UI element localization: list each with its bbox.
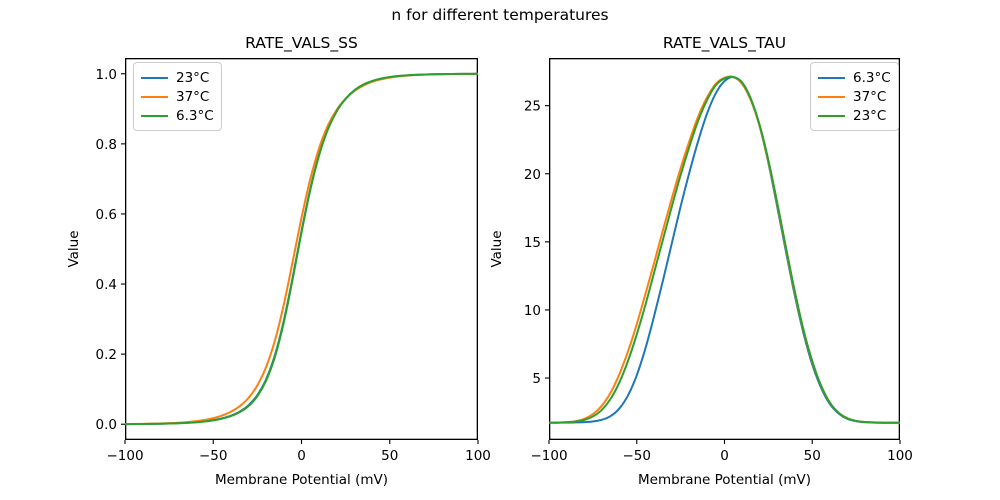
x-tick-label: 50 (381, 448, 398, 464)
y-tick-label: 15 (524, 235, 541, 251)
legend-color-swatch (141, 115, 168, 117)
legend-entry-label: 6.3°C (853, 70, 891, 86)
figure-suptitle: n for different temperatures (0, 6, 1000, 24)
x-tick-label: 0 (297, 448, 306, 464)
y-tick-label: 10 (524, 303, 541, 319)
matplotlib-figure: n for different temperatures RATE_VALS_S… (0, 0, 1000, 500)
x-tick-label: 50 (804, 448, 821, 464)
y-tick-label: 1.0 (96, 67, 117, 83)
y-tick-label: 5 (532, 371, 541, 387)
legend-entry[interactable]: 6.3°C (818, 68, 891, 87)
x-axis-label-tau: Membrane Potential (mV) (549, 472, 900, 488)
y-tick-label: 0.8 (96, 137, 117, 153)
y-axis-label-ss: Value (66, 189, 82, 309)
y-tick-label: 0.2 (96, 347, 117, 363)
y-tick-label: 0.0 (96, 417, 117, 433)
legend-tau[interactable]: 6.3°C37°C23°C (810, 62, 899, 131)
legend-entry[interactable]: 6.3°C (141, 106, 214, 125)
x-tick-label: −100 (530, 448, 567, 464)
legend-entry[interactable]: 37°C (141, 87, 214, 106)
x-tick-label: −50 (623, 448, 652, 464)
legend-color-swatch (818, 77, 845, 79)
legend-entry-label: 23°C (176, 70, 209, 86)
legend-ss[interactable]: 23°C37°C6.3°C (133, 62, 222, 131)
x-tick-label: −50 (199, 448, 228, 464)
legend-color-swatch (818, 115, 845, 117)
x-tick-label: −100 (106, 448, 143, 464)
legend-entry-label: 6.3°C (176, 108, 214, 124)
x-tick-label: 100 (887, 448, 913, 464)
legend-entry-label: 23°C (853, 108, 886, 124)
legend-color-swatch (141, 77, 168, 79)
y-tick-label: 0.6 (96, 207, 117, 223)
y-tick-label: 25 (524, 99, 541, 115)
legend-color-swatch (141, 96, 168, 98)
legend-entry[interactable]: 23°C (141, 68, 214, 87)
subplot-title-tau: RATE_VALS_TAU (549, 34, 900, 52)
legend-entry[interactable]: 37°C (818, 87, 891, 106)
y-tick-label: 0.4 (96, 277, 117, 293)
legend-color-swatch (818, 96, 845, 98)
y-axis-label-tau: Value (489, 189, 505, 309)
subplot-title-ss: RATE_VALS_SS (125, 34, 478, 52)
x-tick-label: 100 (465, 448, 491, 464)
legend-entry[interactable]: 23°C (818, 106, 891, 125)
x-axis-label-ss: Membrane Potential (mV) (125, 472, 478, 488)
legend-entry-label: 37°C (176, 89, 209, 105)
legend-entry-label: 37°C (853, 89, 886, 105)
x-tick-label: 0 (720, 448, 729, 464)
y-tick-label: 20 (524, 167, 541, 183)
